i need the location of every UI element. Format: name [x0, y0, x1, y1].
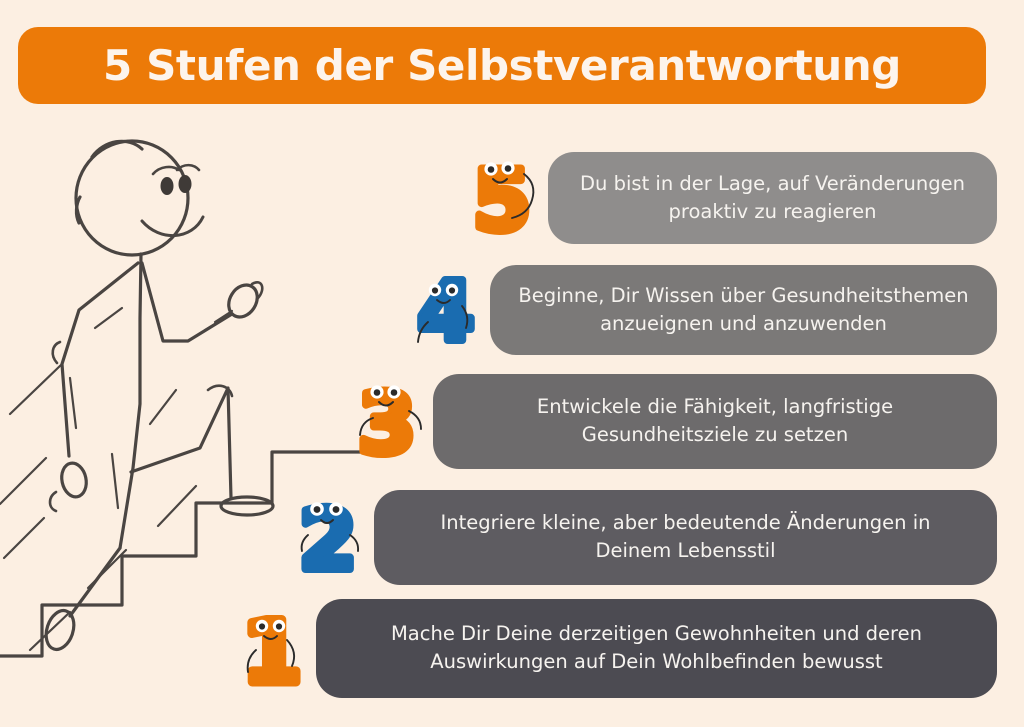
step-text-2: Integriere kleine, aber bedeutende Änder… [441, 509, 931, 566]
step-text-3: Entwickele die Fähigkeit, langfristige G… [537, 393, 893, 450]
step-row-2: 2 Integriere kleine, aber bedeutende Änd… [288, 487, 997, 587]
figure-face [161, 175, 192, 195]
number-character-4-icon: 4 [404, 260, 490, 360]
header-banner: 5 Stufen der Selbstverantwortung [18, 27, 986, 104]
step-text-line1: Beginne, Dir Wissen über Gesundheitsthem… [518, 284, 968, 307]
step-text-4: Beginne, Dir Wissen über Gesundheitsthem… [518, 282, 968, 339]
step-description-box-4: Beginne, Dir Wissen über Gesundheitsthem… [490, 265, 997, 355]
number-character-5-icon: 5 [462, 148, 548, 248]
step-text-line1: Mache Dir Deine derzeitigen Gewohnheiten… [391, 622, 922, 645]
number-character-3-icon: 3 [347, 371, 433, 471]
step-number-badge-3: 3 [347, 371, 433, 471]
figure-head [76, 141, 188, 255]
step-text-line2: Auswirkungen auf Dein Wohlbefinden bewus… [430, 650, 882, 673]
step-description-box-3: Entwickele die Fähigkeit, langfristige G… [433, 374, 997, 469]
step-text-line1: Entwickele die Fähigkeit, langfristige [537, 395, 893, 418]
step-row-3: 3 Entwickele die Fähigkeit, langfristige… [347, 371, 997, 471]
number-character-1-icon: 1 [230, 598, 316, 698]
step-number-badge-5: 5 [462, 148, 548, 248]
step-description-box-2: Integriere kleine, aber bedeutende Änder… [374, 490, 997, 585]
page-title: 5 Stufen der Selbstverantwortung [103, 41, 901, 90]
number-character-2-icon: 2 [288, 487, 374, 587]
step-text-5: Du bist in der Lage, auf Veränderungen p… [580, 170, 965, 227]
step-text-line1: Du bist in der Lage, auf Veränderungen [580, 172, 965, 195]
svg-text:3: 3 [358, 375, 416, 471]
step-text-line2: Gesundheitsziele zu setzen [582, 423, 848, 446]
step-text-1: Mache Dir Deine derzeitigen Gewohnheiten… [391, 620, 922, 677]
step-row-5: 5 Du bist in der Lage, auf Veränderungen… [462, 148, 997, 248]
infographic-canvas: 5 Stufen der Selbstverantwortung [0, 0, 1024, 722]
step-number-badge-2: 2 [288, 487, 374, 587]
step-text-line2: Deinem Lebensstil [595, 539, 775, 562]
step-row-1: 1 Mache Dir Deine derzeitigen Gewohnheit… [230, 597, 997, 699]
step-number-badge-4: 4 [404, 260, 490, 360]
step-text-line1: Integriere kleine, aber bedeutende Änder… [441, 511, 931, 534]
step-text-line2: proaktiv zu reagieren [668, 200, 876, 223]
step-description-box-5: Du bist in der Lage, auf Veränderungen p… [548, 152, 997, 244]
step-number-badge-1: 1 [230, 598, 316, 698]
step-text-line2: anzueignen und anzuwenden [600, 312, 887, 335]
svg-text:2: 2 [299, 491, 357, 587]
step-row-4: 4 Beginne, Dir Wissen über Gesundheitsth… [404, 260, 997, 360]
step-description-box-1: Mache Dir Deine derzeitigen Gewohnheiten… [316, 599, 997, 698]
